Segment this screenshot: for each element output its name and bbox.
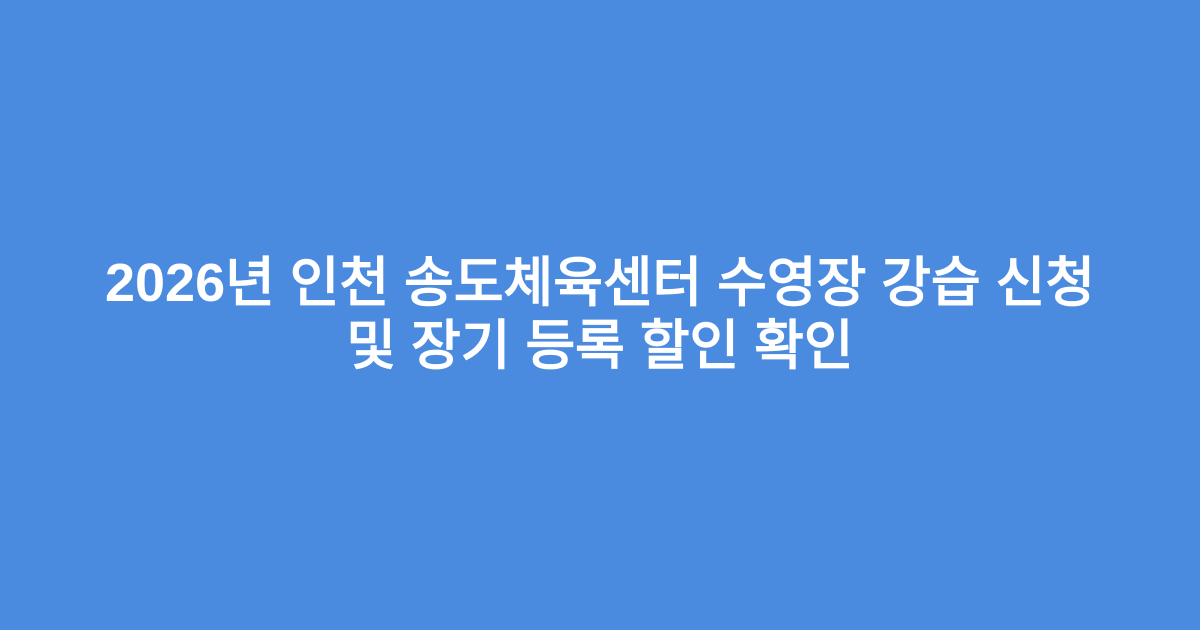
og-banner: 2026년 인천 송도체육센터 수영장 강습 신청 및 장기 등록 할인 확인: [0, 0, 1200, 630]
banner-title: 2026년 인천 송도체육센터 수영장 강습 신청 및 장기 등록 할인 확인: [95, 252, 1105, 378]
